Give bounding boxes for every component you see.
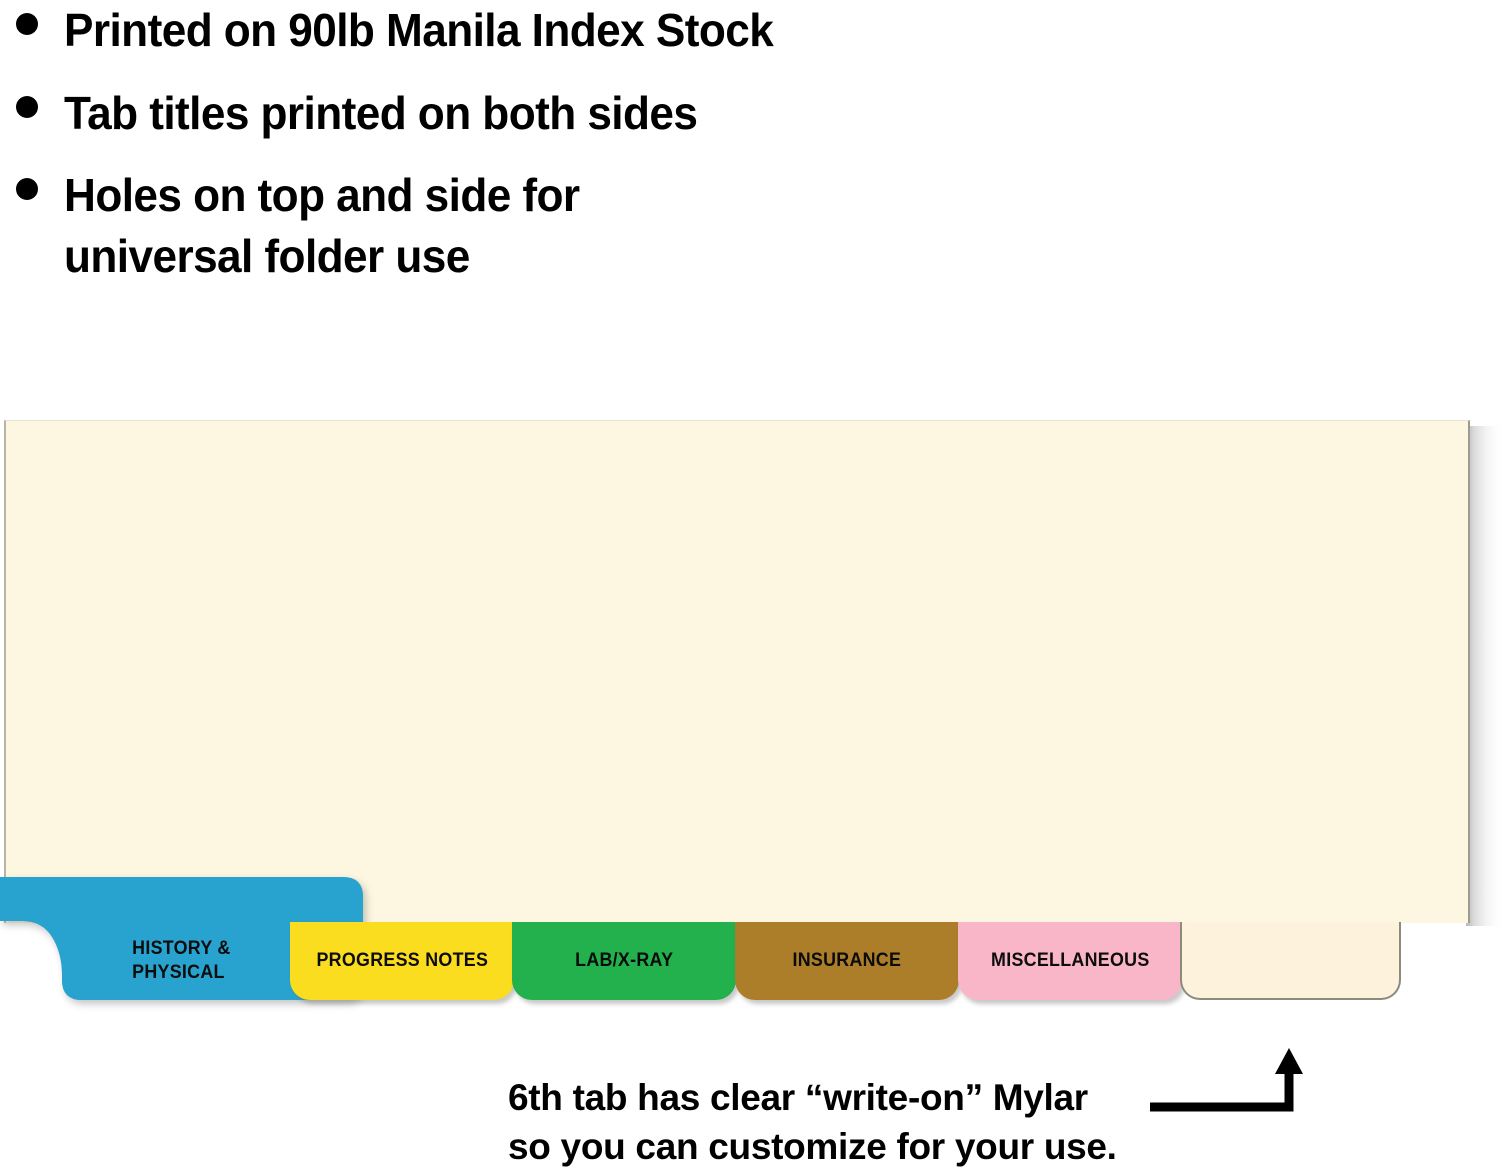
tab-miscellaneous[interactable]: MISCELLANEOUS <box>958 922 1182 1000</box>
tab-history-physical-label-wrap: HISTORY & PHYSICAL <box>72 922 290 1000</box>
tab-label: LAB/X-RAY <box>569 949 678 973</box>
tab-label: PROGRESS NOTES <box>311 949 494 973</box>
bullet-point-icon <box>16 96 38 118</box>
feature-bullet-text: Printed on 90lb Manila Index Stock <box>64 0 773 61</box>
feature-bullet-item: Holes on top and side for universal fold… <box>0 165 1020 286</box>
tab-insurance[interactable]: INSURANCE <box>735 922 959 1000</box>
mylar-tab-caption-text: 6th tab has clear “write-on” Mylar so yo… <box>508 1077 1117 1167</box>
tab-progress-notes[interactable]: PROGRESS NOTES <box>290 922 514 1000</box>
mylar-tab-caption: 6th tab has clear “write-on” Mylar so yo… <box>508 1073 1128 1171</box>
tab-label: INSURANCE <box>787 949 907 973</box>
sheet-drop-shadow <box>1466 426 1500 926</box>
divider-tab-row: HISTORY & PHYSICAL PROGRESS NOTES LAB/X-… <box>0 875 1500 1010</box>
tab-label: HISTORY & PHYSICAL <box>126 937 236 986</box>
feature-bullet-text: Holes on top and side for universal fold… <box>64 165 580 286</box>
feature-bullet-list: Printed on 90lb Manila Index Stock Tab t… <box>0 0 1020 309</box>
feature-bullet-text: Tab titles printed on both sides <box>64 83 697 144</box>
callout-arrow-up-icon <box>1146 1048 1306 1120</box>
divider-sheet-container <box>4 420 1472 923</box>
tab-blank-mylar[interactable] <box>1180 922 1401 1000</box>
manila-index-divider-sheet <box>4 420 1470 923</box>
tab-lab-xray[interactable]: LAB/X-RAY <box>512 922 736 1000</box>
feature-bullet-item: Tab titles printed on both sides <box>0 83 1020 144</box>
tab-label: MISCELLANEOUS <box>985 949 1155 973</box>
bullet-point-icon <box>16 178 38 200</box>
feature-bullet-item: Printed on 90lb Manila Index Stock <box>0 0 1020 61</box>
bullet-point-icon <box>16 13 38 35</box>
